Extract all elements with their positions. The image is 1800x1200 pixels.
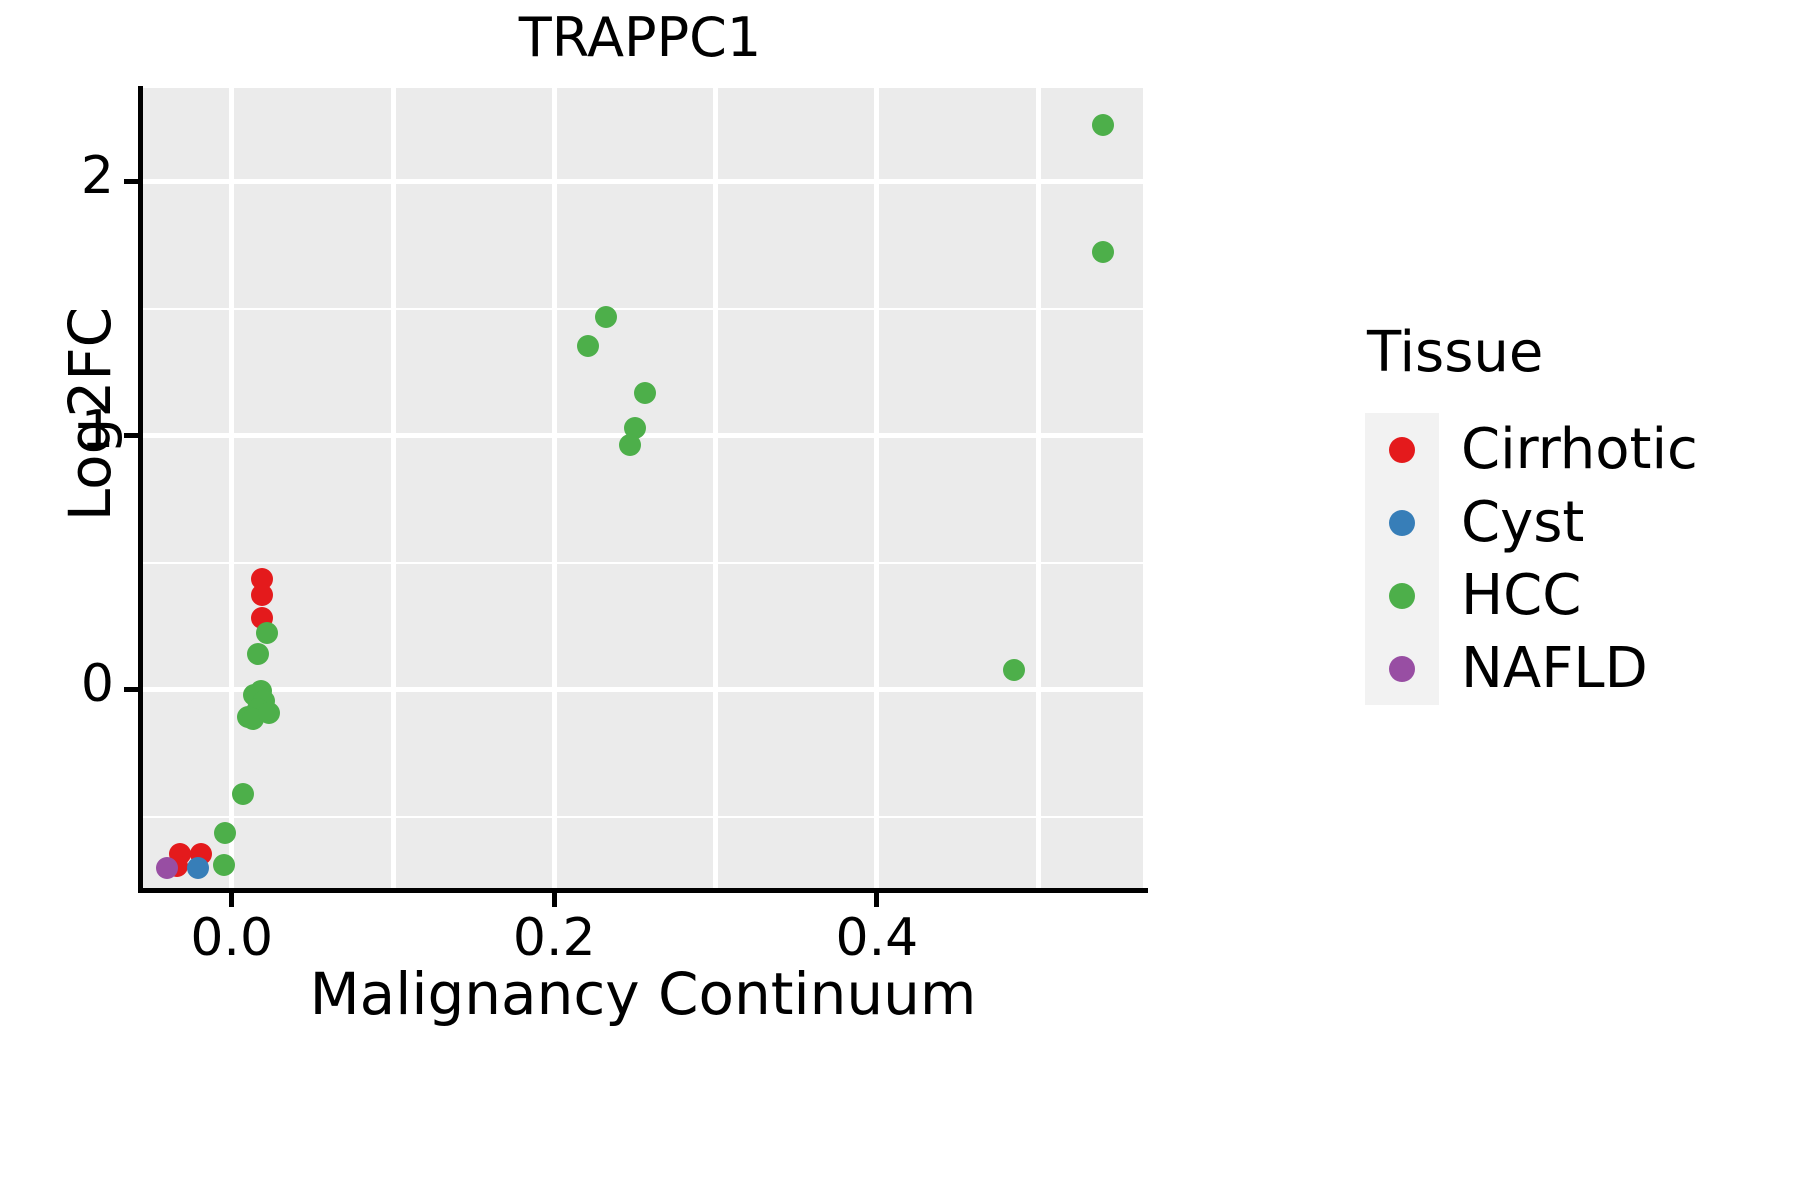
legend-item-nafld[interactable]: NAFLD	[1365, 632, 1785, 705]
data-point-hcc	[247, 643, 269, 665]
data-point-cyst	[187, 857, 209, 879]
x-axis-title: Malignancy Continuum	[143, 960, 1143, 1028]
legend-item-label: Cyst	[1461, 495, 1584, 551]
data-point-cirrhotic	[251, 584, 273, 606]
gridline-horizontal	[143, 179, 1143, 184]
x-axis-tick	[552, 893, 557, 907]
legend-item-label: HCC	[1461, 568, 1581, 624]
x-axis-tick-label: 0.2	[474, 908, 634, 968]
legend-dot-icon	[1389, 583, 1415, 609]
x-axis-tick	[874, 893, 879, 907]
x-axis-line	[138, 888, 1148, 893]
y-axis-tick	[124, 687, 138, 692]
data-point-hcc	[213, 854, 235, 876]
legend-key	[1365, 559, 1439, 632]
data-point-hcc	[595, 306, 617, 328]
x-axis-tick-label: 0.4	[797, 908, 957, 968]
data-point-hcc	[232, 783, 254, 805]
data-point-hcc	[1092, 114, 1114, 136]
y-axis-line	[138, 86, 143, 892]
gridline-vertical	[713, 88, 718, 888]
data-point-hcc	[577, 335, 599, 357]
y-axis-tick	[124, 179, 138, 184]
legend-item-cirrhotic[interactable]: Cirrhotic	[1365, 413, 1785, 486]
gridline-vertical	[229, 88, 234, 888]
gridline-minor-horizontal	[143, 562, 1143, 564]
data-point-hcc	[258, 702, 280, 724]
scatter-plot-figure: TRAPPC1 0120.00.20.4 Log2FC Malignancy C…	[0, 0, 1800, 1200]
x-axis-tick	[229, 893, 234, 907]
legend-items: CirrhoticCystHCCNAFLD	[1365, 413, 1785, 705]
page-title: TRAPPC1	[140, 8, 1140, 67]
plot-panel	[143, 88, 1143, 888]
legend-dot-icon	[1389, 510, 1415, 536]
y-axis-tick-label: 0	[4, 654, 114, 714]
legend-dot-icon	[1389, 656, 1415, 682]
legend-key	[1365, 486, 1439, 559]
legend-key	[1365, 632, 1439, 705]
data-point-hcc	[1092, 241, 1114, 263]
legend-item-label: NAFLD	[1461, 641, 1648, 697]
gridline-vertical	[391, 88, 396, 888]
legend-key	[1365, 413, 1439, 486]
legend-item-cyst[interactable]: Cyst	[1365, 486, 1785, 559]
data-point-hcc	[256, 622, 278, 644]
data-point-hcc	[634, 382, 656, 404]
legend-title: Tissue	[1367, 320, 1785, 385]
gridline-vertical	[552, 88, 557, 888]
data-point-hcc	[619, 434, 641, 456]
y-axis-title: Log2FC	[56, 194, 124, 634]
x-axis-tick-label: 0.0	[152, 908, 312, 968]
legend-item-hcc[interactable]: HCC	[1365, 559, 1785, 632]
legend: Tissue CirrhoticCystHCCNAFLD	[1365, 320, 1785, 705]
gridline-vertical	[1036, 88, 1041, 888]
y-axis-tick	[124, 433, 138, 438]
gridline-vertical	[874, 88, 879, 888]
data-point-nafld	[156, 857, 178, 879]
legend-item-label: Cirrhotic	[1461, 422, 1698, 478]
gridline-minor-horizontal	[143, 308, 1143, 310]
data-point-hcc	[1003, 659, 1025, 681]
legend-dot-icon	[1389, 437, 1415, 463]
gridline-minor-horizontal	[143, 816, 1143, 818]
gridline-horizontal	[143, 687, 1143, 692]
